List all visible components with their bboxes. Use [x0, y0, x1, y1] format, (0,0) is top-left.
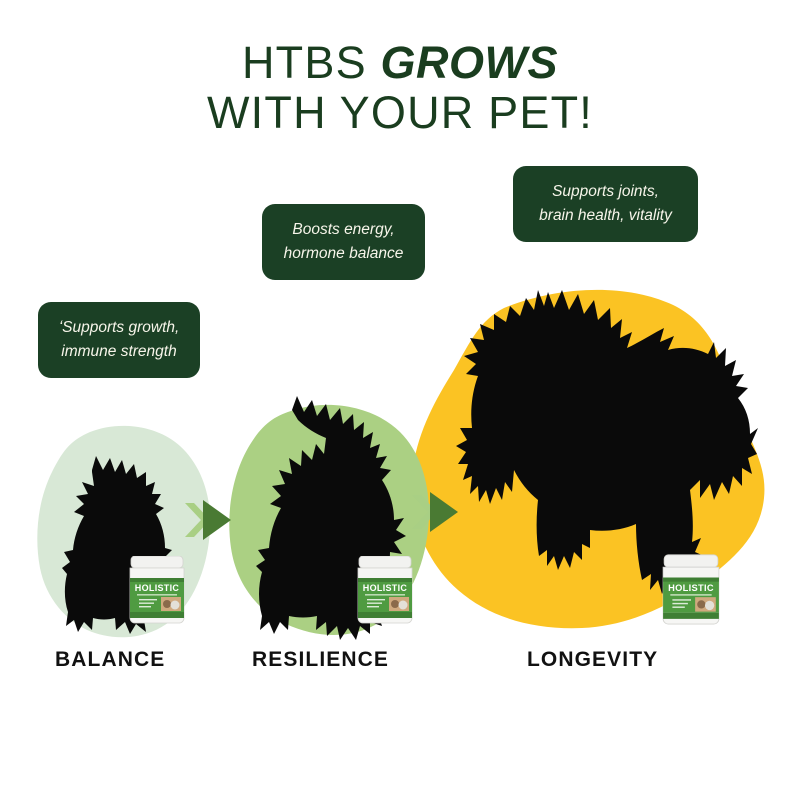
- product-jar-resilience: HOLISTIC: [355, 556, 415, 628]
- svg-text:HOLISTIC: HOLISTIC: [135, 583, 180, 593]
- stage-label-balance: BALANCE: [55, 648, 165, 672]
- callout-balance: ʻSupports growth, immune strength: [38, 302, 200, 378]
- arrow-balance-to-resilience: [185, 497, 243, 543]
- stage-label-longevity: LONGEVITY: [527, 648, 658, 672]
- callout-resilience-line-2: hormone balance: [284, 242, 404, 266]
- svg-text:HOLISTIC: HOLISTIC: [668, 583, 714, 593]
- callout-resilience-line-1: Boosts energy,: [292, 218, 394, 242]
- callout-resilience: Boosts energy, hormone balance: [262, 204, 425, 280]
- svg-text:HOLISTIC: HOLISTIC: [363, 583, 408, 593]
- infographic-canvas: HTBS GROWS WITH YOUR PET!: [0, 0, 800, 800]
- stage-label-resilience: RESILIENCE: [252, 648, 389, 672]
- callout-balance-line-2: immune strength: [61, 340, 176, 364]
- page-title: HTBS GROWS WITH YOUR PET!: [0, 38, 800, 139]
- callout-longevity-line-2: brain health, vitality: [539, 204, 672, 228]
- headline-plain: HTBS: [242, 37, 381, 88]
- callout-balance-line-1: ʻSupports growth,: [59, 316, 180, 340]
- callout-longevity: Supports joints, brain health, vitality: [513, 166, 698, 242]
- headline-emphasis: GROWS: [381, 37, 559, 88]
- headline-line-2: WITH YOUR PET!: [0, 88, 800, 138]
- product-jar-longevity: HOLISTIC: [660, 554, 722, 630]
- arrow-resilience-to-longevity: [412, 489, 470, 535]
- callout-longevity-line-1: Supports joints,: [552, 180, 659, 204]
- headline-line-1: HTBS GROWS: [0, 38, 800, 88]
- product-jar-balance: HOLISTIC: [127, 556, 187, 628]
